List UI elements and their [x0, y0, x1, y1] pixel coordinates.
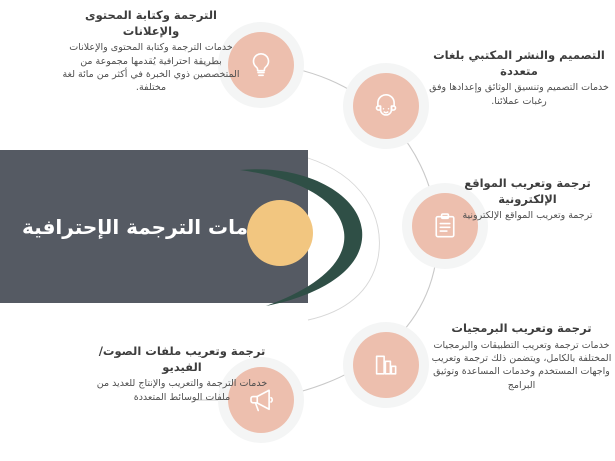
bar-chart-icon — [371, 350, 401, 380]
text-block-desktop-publishing: التصميم والنشر المكتبي بلغات متعددة خدما… — [424, 48, 614, 108]
body-website-localization: ترجمة وتعريب المواقع الإلكترونية — [440, 209, 615, 222]
main-title-panel: خدمات الترجمة الإحترافية — [0, 150, 308, 303]
text-block-audio-video: ترجمة وتعريب ملفات الصوت/ الفيديو خدمات … — [92, 344, 272, 404]
face-headset-icon — [371, 91, 401, 121]
lightbulb-icon — [246, 50, 276, 80]
heading-desktop-publishing: التصميم والنشر المكتبي بلغات متعددة — [424, 48, 614, 79]
heading-website-localization: ترجمة وتعريب المواقع الإلكترونية — [440, 176, 615, 207]
body-content-writing: خدمات الترجمة وكتابة المحتوى والإعلانات … — [56, 41, 246, 95]
node-software-localization[interactable] — [343, 322, 429, 408]
infographic-canvas: خدمات الترجمة الإحترافية — [0, 0, 615, 461]
text-block-software-localization: ترجمة وتعريب البرمجيات خدمات ترجمة وتعري… — [428, 321, 615, 392]
body-audio-video: خدمات الترجمة والتعريب والإنتاج للعديد م… — [92, 377, 272, 404]
node-software-localization-badge — [353, 332, 419, 398]
body-software-localization: خدمات ترجمة وتعريب التطبيقات والبرمجيات … — [428, 339, 615, 393]
body-desktop-publishing: خدمات التصميم وتنسيق الوثائق وإعدادها وف… — [424, 81, 614, 108]
node-desktop-publishing-badge — [353, 73, 419, 139]
heading-audio-video: ترجمة وتعريب ملفات الصوت/ الفيديو — [92, 344, 272, 375]
text-block-website-localization: ترجمة وتعريب المواقع الإلكترونية ترجمة و… — [440, 176, 615, 223]
page-title: خدمات الترجمة الإحترافية — [0, 150, 308, 303]
node-desktop-publishing[interactable] — [343, 63, 429, 149]
text-block-content-writing: الترجمة وكتابة المحتوى والإعلانات خدمات … — [56, 8, 246, 95]
heading-content-writing: الترجمة وكتابة المحتوى والإعلانات — [56, 8, 246, 39]
heading-software-localization: ترجمة وتعريب البرمجيات — [428, 321, 615, 337]
